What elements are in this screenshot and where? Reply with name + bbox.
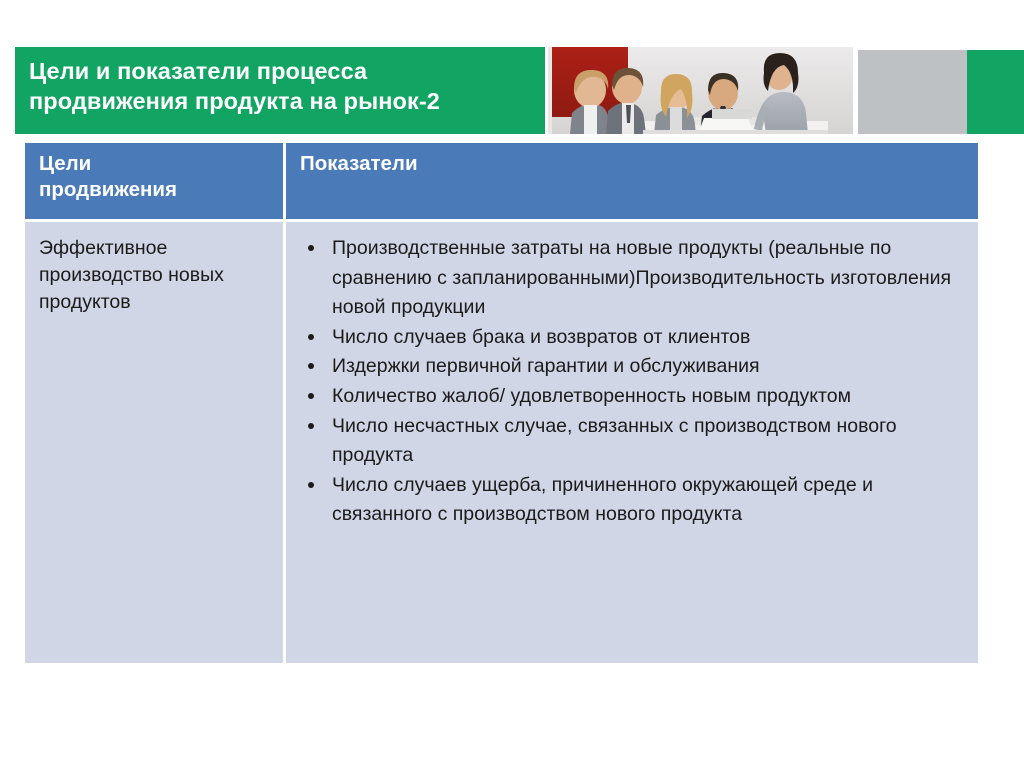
bullet-dot-icon (308, 245, 314, 251)
list-item-label: Число несчастных случае, связанных с про… (332, 415, 897, 467)
header-gray-block (858, 50, 967, 134)
bullet-dot-icon (308, 334, 314, 340)
list-item-label: Количество жалоб/ удовлетворенность новы… (332, 385, 851, 407)
list-item-label: Издержки первичной гарантии и обслуживан… (332, 355, 760, 377)
table-header-row: Цели продвижения Показатели (25, 143, 978, 219)
list-item-label: Число случаев брака и возвратов от клиен… (332, 326, 750, 348)
column-header-goals: Цели продвижения (25, 143, 283, 219)
cell-indicators: Производственные затраты на новые продук… (286, 222, 978, 663)
table-row: Эффективное производство новых продуктов… (25, 222, 978, 663)
list-item: Число случаев брака и возвратов от клиен… (296, 323, 968, 353)
indicators-list: Производственные затраты на новые продук… (296, 234, 968, 530)
business-team-meeting-photo-icon (548, 47, 853, 134)
list-item: Издержки первичной гарантии и обслуживан… (296, 352, 968, 382)
column-header-indicators: Показатели (286, 143, 978, 219)
page-title: Цели и показатели процесса продвижения п… (29, 56, 533, 116)
bullet-dot-icon (308, 393, 314, 399)
list-item-label: Число случаев ущерба, причиненного окруж… (332, 474, 873, 526)
bullet-dot-icon (308, 363, 314, 369)
list-item: Производственные затраты на новые продук… (296, 234, 968, 323)
cell-goal: Эффективное производство новых продуктов (25, 222, 283, 663)
header-photo (548, 47, 853, 134)
bullet-dot-icon (308, 423, 314, 429)
slide-title-block: Цели и показатели процесса продвижения п… (15, 47, 545, 134)
list-item: Число случаев ущерба, причиненного окруж… (296, 471, 968, 530)
slide-canvas: Цели и показатели процесса продвижения п… (0, 0, 1024, 767)
bullet-dot-icon (308, 482, 314, 488)
header-green-block (967, 50, 1024, 134)
list-item: Число несчастных случае, связанных с про… (296, 412, 968, 471)
list-item: Количество жалоб/ удовлетворенность новы… (296, 382, 968, 412)
slide-header-band: Цели и показатели процесса продвижения п… (15, 47, 1012, 134)
list-item-label: Производственные затраты на новые продук… (332, 237, 951, 318)
goals-indicators-table: Цели продвижения Показатели Эффективное … (25, 143, 978, 666)
